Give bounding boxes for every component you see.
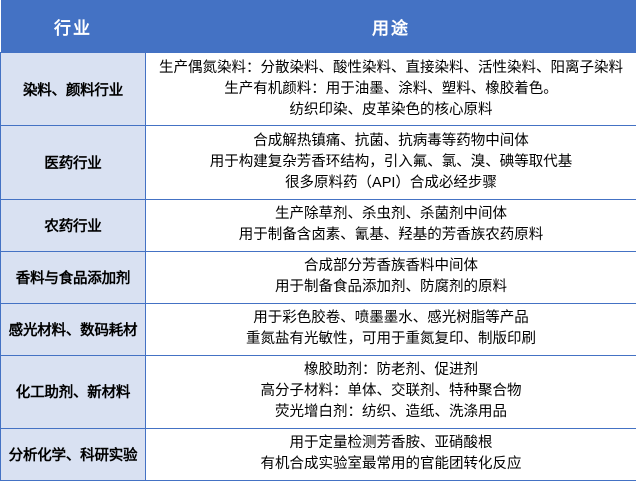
usage-line: 纺织印染、皮革染色的核心原料 <box>152 100 630 121</box>
table-container: 行业 用途 染料、颜料行业 生产偶氮染料：分散染料、酸性染料、直接染料、活性染料… <box>0 0 636 481</box>
cell-industry: 染料、颜料行业 <box>1 53 146 126</box>
usage-line: 用于制备食品添加剂、防腐剂的原料 <box>152 277 630 298</box>
usage-line: 橡胶助剂：防老剂、促进剂 <box>152 360 630 381</box>
usage-line: 用于构建复杂芳香环结构，引入氟、氯、溴、碘等取代基 <box>152 152 630 173</box>
cell-industry: 感光材料、数码耗材 <box>1 303 146 355</box>
usage-line: 高分子材料：单体、交联剂、特种聚合物 <box>152 381 630 402</box>
table-row: 染料、颜料行业 生产偶氮染料：分散染料、酸性染料、直接染料、活性染料、阳离子染料… <box>1 53 636 126</box>
usage-line: 重氮盐有光敏性，可用于重氮复印、制版印刷 <box>152 329 630 350</box>
cell-industry: 医药行业 <box>1 126 146 199</box>
cell-usage: 橡胶助剂：防老剂、促进剂 高分子材料：单体、交联剂、特种聚合物 荧光增白剂：纺织… <box>146 355 636 428</box>
table-row: 医药行业 合成解热镇痛、抗菌、抗病毒等药物中间体 用于构建复杂芳香环结构，引入氟… <box>1 126 636 199</box>
cell-industry: 香料与食品添加剂 <box>1 251 146 303</box>
cell-usage: 合成解热镇痛、抗菌、抗病毒等药物中间体 用于构建复杂芳香环结构，引入氟、氯、溴、… <box>146 126 636 199</box>
header-row: 行业 用途 <box>1 0 636 53</box>
cell-usage: 生产除草剂、杀虫剂、杀菌剂中间体 用于制备含卤素、氰基、羟基的芳香族农药原料 <box>146 199 636 251</box>
usage-line: 很多原料药（API）合成必经步骤 <box>152 173 630 194</box>
cell-industry: 化工助剂、新材料 <box>1 355 146 428</box>
usage-line: 荧光增白剂：纺织、造纸、洗涤用品 <box>152 402 630 423</box>
cell-usage: 合成部分芳香族香料中间体 用于制备食品添加剂、防腐剂的原料 <box>146 251 636 303</box>
table-row: 化工助剂、新材料 橡胶助剂：防老剂、促进剂 高分子材料：单体、交联剂、特种聚合物… <box>1 355 636 428</box>
usage-line: 有机合成实验室最常用的官能团转化反应 <box>152 454 630 475</box>
table-body: 染料、颜料行业 生产偶氮染料：分散染料、酸性染料、直接染料、活性染料、阳离子染料… <box>1 53 636 481</box>
industry-usage-table: 行业 用途 染料、颜料行业 生产偶氮染料：分散染料、酸性染料、直接染料、活性染料… <box>0 0 636 481</box>
table-row: 分析化学、科研实验 用于定量检测芳香胺、亚硝酸根 有机合成实验室最常用的官能团转… <box>1 428 636 480</box>
table-row: 感光材料、数码耗材 用于彩色胶卷、喷墨墨水、感光树脂等产品 重氮盐有光敏性，可用… <box>1 303 636 355</box>
cell-usage: 用于定量检测芳香胺、亚硝酸根 有机合成实验室最常用的官能团转化反应 <box>146 428 636 480</box>
cell-industry: 分析化学、科研实验 <box>1 428 146 480</box>
column-header-usage: 用途 <box>146 0 636 53</box>
cell-industry: 农药行业 <box>1 199 146 251</box>
cell-usage: 用于彩色胶卷、喷墨墨水、感光树脂等产品 重氮盐有光敏性，可用于重氮复印、制版印刷 <box>146 303 636 355</box>
usage-line: 生产有机颜料：用于油墨、涂料、塑料、橡胶着色。 <box>152 79 630 100</box>
usage-line: 合成解热镇痛、抗菌、抗病毒等药物中间体 <box>152 131 630 152</box>
usage-line: 用于制备含卤素、氰基、羟基的芳香族农药原料 <box>152 225 630 246</box>
usage-line: 生产偶氮染料：分散染料、酸性染料、直接染料、活性染料、阳离子染料 <box>152 58 630 79</box>
table-row: 香料与食品添加剂 合成部分芳香族香料中间体 用于制备食品添加剂、防腐剂的原料 <box>1 251 636 303</box>
usage-line: 生产除草剂、杀虫剂、杀菌剂中间体 <box>152 204 630 225</box>
table-header: 行业 用途 <box>1 0 636 53</box>
table-row: 农药行业 生产除草剂、杀虫剂、杀菌剂中间体 用于制备含卤素、氰基、羟基的芳香族农… <box>1 199 636 251</box>
cell-usage: 生产偶氮染料：分散染料、酸性染料、直接染料、活性染料、阳离子染料 生产有机颜料：… <box>146 53 636 126</box>
column-header-industry: 行业 <box>1 0 146 53</box>
usage-line: 用于彩色胶卷、喷墨墨水、感光树脂等产品 <box>152 308 630 329</box>
usage-line: 合成部分芳香族香料中间体 <box>152 256 630 277</box>
usage-line: 用于定量检测芳香胺、亚硝酸根 <box>152 433 630 454</box>
